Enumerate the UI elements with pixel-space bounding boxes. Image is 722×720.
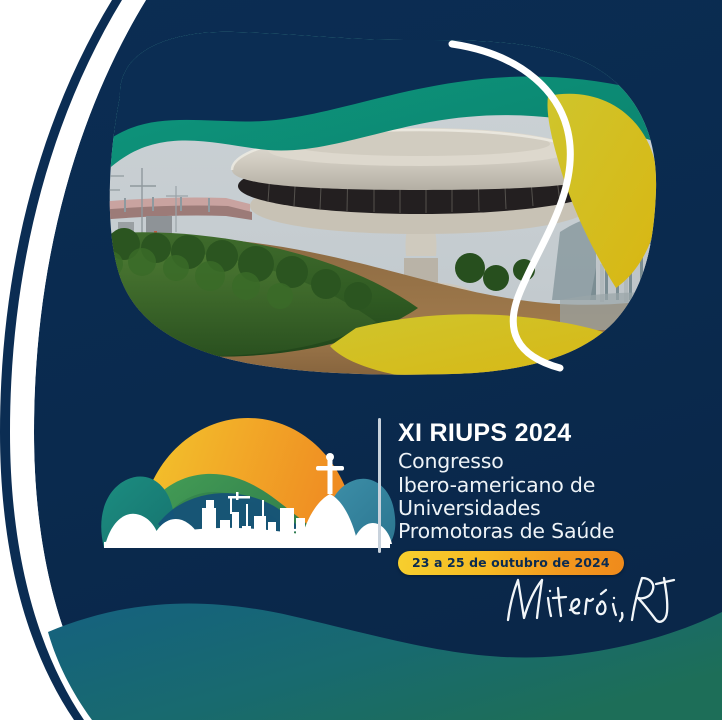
event-text-block: XI RIUPS 2024 Congresso Ibero-americano … [398, 420, 698, 544]
subtitle-line-4: Promotoras de Saúde [398, 520, 698, 543]
subtitle-line-2: Ibero-americano de [398, 474, 698, 497]
subtitle-line-1: Congresso [398, 450, 698, 473]
subtitle-line-3: Universidades [398, 497, 698, 520]
poster-canvas: XI RIUPS 2024 Congresso Ibero-americano … [0, 0, 722, 720]
location-signature: Niterói, RJ [498, 568, 678, 628]
title-divider [378, 418, 381, 553]
page-title: XI RIUPS 2024 [398, 420, 698, 446]
